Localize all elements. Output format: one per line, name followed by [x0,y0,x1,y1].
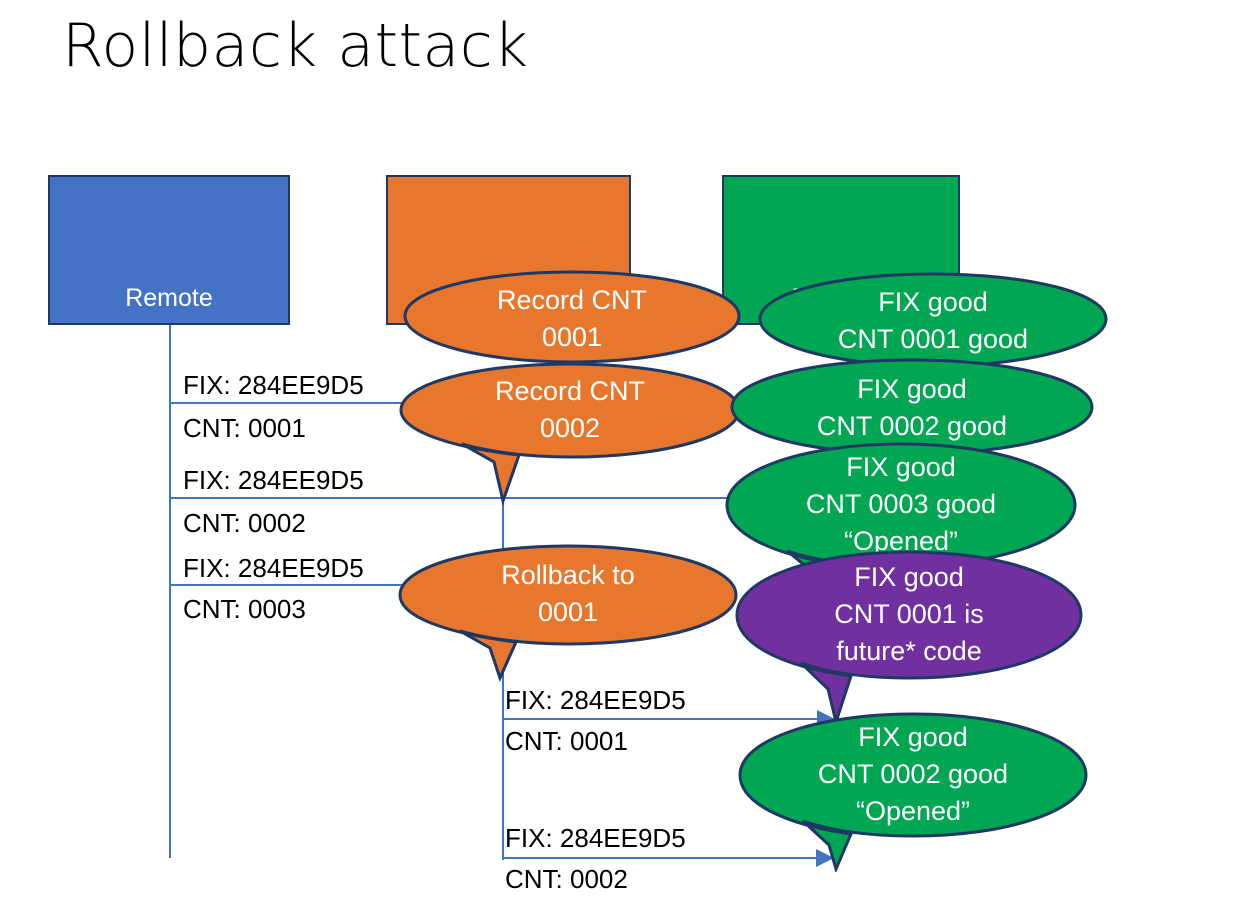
callout-bubble-shape [735,550,1083,730]
message-label-4-fix: FIX: 284EE9D5 [505,681,686,719]
message-label-5-cnt: CNT: 0002 [505,860,628,898]
callout-record-cnt-0002[interactable]: Record CNT 0002 [399,362,741,507]
message-label-1-cnt: CNT: 0001 [183,409,306,447]
callout-fix-good-cnt-0001-future-code[interactable]: FIX good CNT 0001 is future* code [735,550,1083,730]
message-label-3-fix: FIX: 284EE9D5 [183,549,364,587]
callout-bubble-shape [403,270,741,368]
callout-bubble-shape [399,362,741,507]
callout-bubble-shape [738,712,1088,872]
page-title: Rollback attack [62,10,529,82]
callout-bubble-shape [758,272,1108,370]
message-label-3-cnt: CNT: 0003 [183,590,306,628]
message-label-2-fix: FIX: 284EE9D5 [183,461,364,499]
message-label-1-fix: FIX: 284EE9D5 [183,366,364,404]
message-label-5-fix: FIX: 284EE9D5 [505,819,686,857]
actor-label-remote: Remote [125,283,213,313]
callout-record-cnt-0001[interactable]: Record CNT 0001 [403,270,741,368]
message-label-4-cnt: CNT: 0001 [505,722,628,760]
slide-canvas: Rollback attack Remote Flipper Zero Rece… [0,0,1233,898]
callout-fix-good-cnt-0002-opened[interactable]: FIX good CNT 0002 good “Opened” [738,712,1088,872]
actor-box-remote[interactable]: Remote [48,175,290,325]
callout-bubble-shape [398,544,738,684]
callout-rollback-to-0001[interactable]: Rollback to 0001 [398,544,738,684]
callout-fix-good-cnt-0001[interactable]: FIX good CNT 0001 good [758,272,1108,370]
message-label-2-cnt: CNT: 0002 [183,504,306,542]
